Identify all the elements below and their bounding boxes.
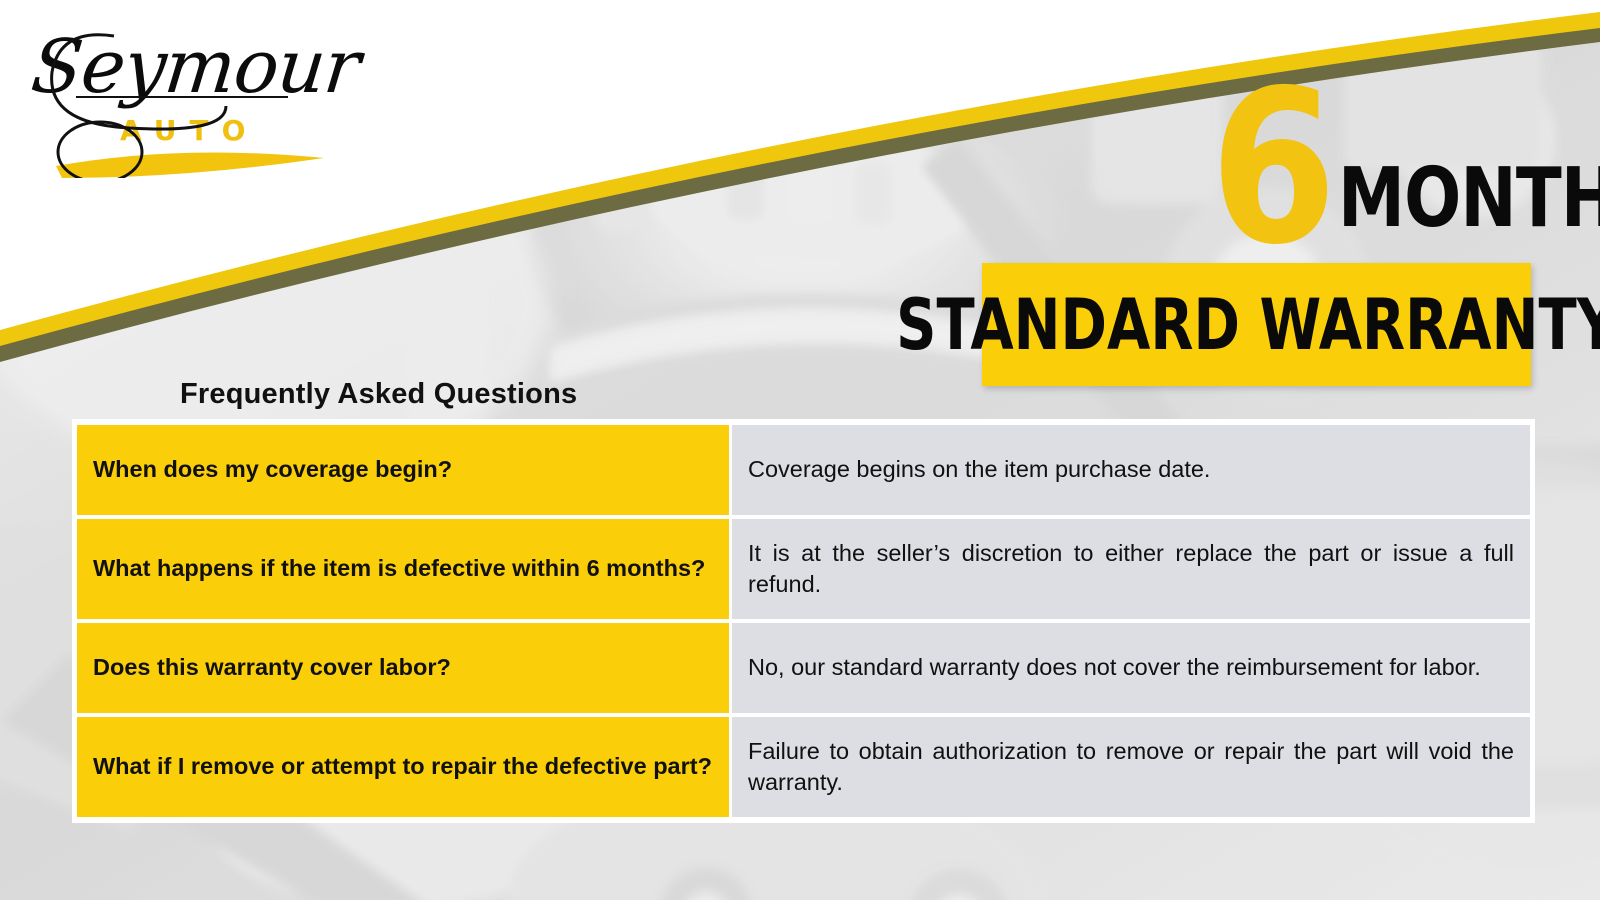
faq-answer: Failure to obtain authorization to remov…: [732, 717, 1530, 817]
faq-question: What if I remove or attempt to repair th…: [77, 717, 729, 817]
warranty-slide: Seymour AUTO 6 MONTH STANDARD WARRANTY F…: [0, 0, 1600, 900]
faq-table: When does my coverage begin? Coverage be…: [74, 421, 1533, 821]
logo-swoosh-icon: [28, 18, 338, 178]
table-row: What happens if the item is defective wi…: [77, 519, 1530, 619]
table-row: What if I remove or attempt to repair th…: [77, 717, 1530, 817]
standard-warranty-text: STANDARD WARRANTY: [896, 284, 1600, 366]
faq-heading: Frequently Asked Questions: [180, 378, 577, 411]
table-row: When does my coverage begin? Coverage be…: [77, 425, 1530, 515]
table-row: Does this warranty cover labor? No, our …: [77, 623, 1530, 713]
faq-question: Does this warranty cover labor?: [77, 623, 729, 713]
standard-warranty-banner: STANDARD WARRANTY: [982, 263, 1531, 386]
duration-number: 6: [1210, 85, 1333, 250]
faq-question: What happens if the item is defective wi…: [77, 519, 729, 619]
faq-answer: It is at the seller’s discretion to eith…: [732, 519, 1530, 619]
duration-unit: MONTH: [1338, 161, 1600, 236]
faq-answer: No, our standard warranty does not cover…: [732, 623, 1530, 713]
seymour-auto-logo: Seymour AUTO: [28, 18, 338, 178]
faq-answer: Coverage begins on the item purchase dat…: [732, 425, 1530, 515]
faq-question: When does my coverage begin?: [77, 425, 729, 515]
duration-headline: 6 MONTH: [1210, 78, 1600, 250]
